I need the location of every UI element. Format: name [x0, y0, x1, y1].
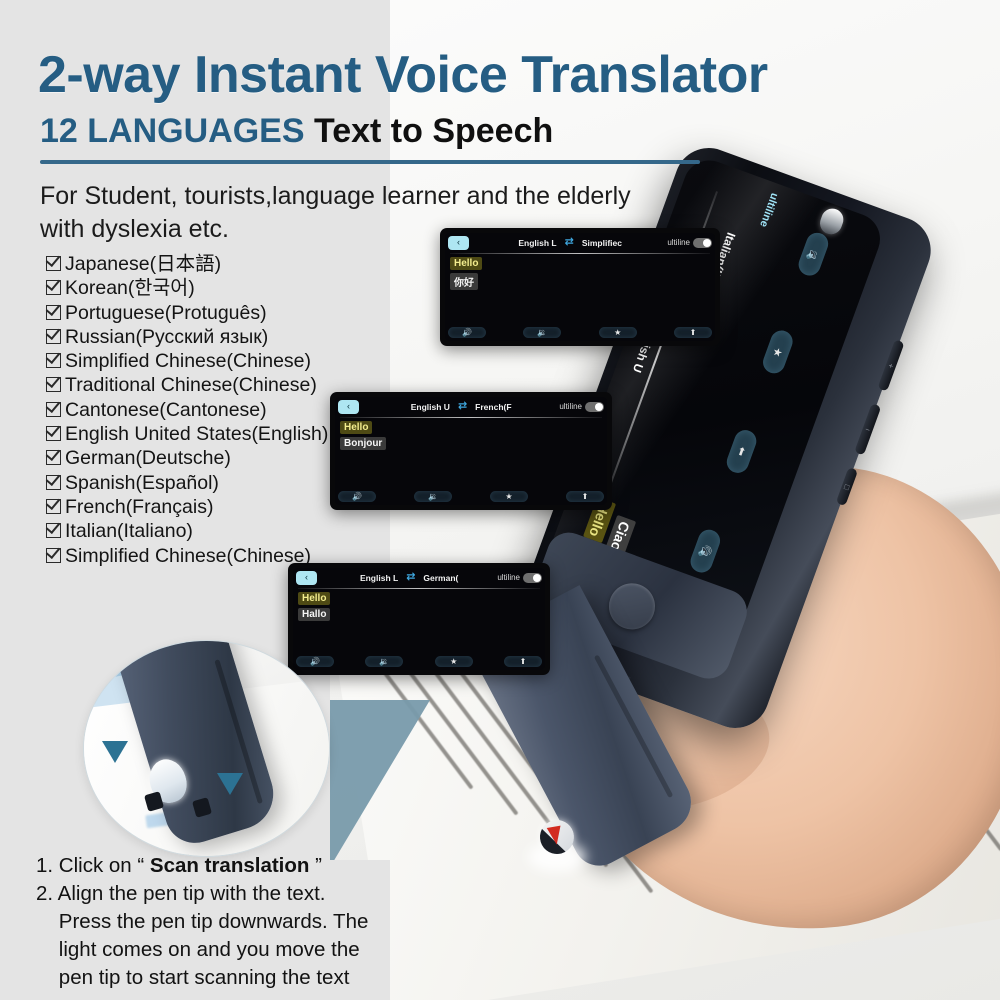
source-text: Hello: [340, 421, 372, 434]
target-language[interactable]: German(: [423, 573, 458, 583]
language-label: Italian(Italiano): [65, 519, 193, 543]
device-button-share[interactable]: ⬆: [724, 427, 760, 476]
step1-prefix: 1. Click on “: [36, 854, 150, 877]
checkmark-icon: [46, 377, 61, 392]
translation-screen-german[interactable]: ‹English L⇄German(ultilineHelloHallo🔊🔉★⬆: [288, 563, 550, 675]
device-multiline-label[interactable]: ultiline: [757, 191, 780, 228]
play-source-audio-button[interactable]: 🔊: [448, 327, 486, 338]
favorite-button[interactable]: ★: [435, 656, 473, 667]
screen-action-bar: 🔊🔉★⬆: [448, 327, 712, 338]
language-label: Russian(Русский язык): [65, 325, 268, 349]
pen-tip-closeup-inset: [83, 640, 330, 857]
source-language[interactable]: English U: [411, 402, 450, 412]
favorite-button[interactable]: ★: [490, 491, 528, 502]
language-label: Cantonese(Cantonese): [65, 398, 267, 422]
language-label: Spanish(Español): [65, 471, 219, 495]
checkmark-icon: [46, 475, 61, 490]
checkmark-icon: [46, 499, 61, 514]
language-label: French(Français): [65, 495, 213, 519]
language-item: Portuguese(Protuguês): [46, 301, 386, 325]
target-language[interactable]: Simplifiec: [582, 238, 622, 248]
share-button[interactable]: ⬆: [674, 327, 712, 338]
screen-header: ‹English U⇄French(Fultiline: [338, 398, 604, 415]
instruction-step-1: 1. Click on “ Scan translation ”: [36, 852, 376, 880]
source-language[interactable]: English L: [360, 573, 398, 583]
translation-screen-chinese[interactable]: ‹English L⇄SimplifiecultilineHello你好🔊🔉★⬆: [440, 228, 720, 346]
target-text: 你好: [450, 273, 478, 290]
step1-action: Scan translation: [150, 854, 310, 877]
language-item: Simplified Chinese(Chinese): [46, 349, 386, 373]
subtitle-language-count: 12 LANGUAGES: [40, 112, 305, 150]
down-arrow-icon-left: [102, 741, 128, 763]
device-button-play-target-audio[interactable]: 🔉: [796, 230, 832, 279]
play-target-audio-button[interactable]: 🔉: [414, 491, 452, 502]
checkmark-icon: [46, 305, 61, 320]
page-subtitle: 12 LANGUAGES Text to Speech: [40, 112, 553, 151]
step1-suffix: ”: [309, 854, 322, 877]
subtitle-feature: Text to Speech: [314, 112, 553, 150]
target-text: Hallo: [298, 608, 330, 621]
checkmark-icon: [46, 426, 61, 441]
screen-divider: [298, 588, 540, 589]
language-label: German(Deutsche): [65, 446, 231, 470]
play-target-audio-button[interactable]: 🔉: [365, 656, 403, 667]
language-label: Japanese(日本語): [65, 252, 221, 276]
play-target-audio-button[interactable]: 🔉: [523, 327, 561, 338]
source-language[interactable]: English L: [518, 238, 556, 248]
language-label: Simplified Chinese(Chinese): [65, 349, 311, 373]
checkmark-icon: [46, 353, 61, 368]
back-icon[interactable]: ‹: [338, 400, 359, 414]
target-language[interactable]: French(F: [475, 402, 511, 412]
checkmark-icon: [46, 402, 61, 417]
language-pair[interactable]: English L⇄Simplifiec: [473, 237, 667, 248]
checkmark-icon: [46, 548, 61, 563]
language-item: Japanese(日本語): [46, 252, 386, 276]
multiline-label: ultiline: [667, 238, 690, 247]
back-icon[interactable]: ‹: [448, 236, 469, 250]
translation-screen-french[interactable]: ‹English U⇄French(FultilineHelloBonjour🔊…: [330, 392, 612, 510]
language-item: Russian(Русский язык): [46, 325, 386, 349]
checkmark-icon: [46, 523, 61, 538]
language-label: Portuguese(Protuguês): [65, 301, 267, 325]
screen-header: ‹English L⇄Simplifiecultiline: [448, 234, 712, 251]
favorite-button[interactable]: ★: [599, 327, 637, 338]
play-source-audio-button[interactable]: 🔊: [296, 656, 334, 667]
swap-languages-icon[interactable]: ⇄: [458, 401, 467, 412]
back-icon[interactable]: ‹: [296, 571, 317, 585]
product-marketing-image: English U ⇄ Italian(Ita ultiline ‹ Hello…: [0, 0, 1000, 1000]
page-title: 2-way Instant Voice Translator: [38, 45, 968, 105]
checkmark-icon: [46, 280, 61, 295]
screen-action-bar: 🔊🔉★⬆: [296, 656, 542, 667]
target-text: Bonjour: [340, 437, 386, 450]
source-text: Hello: [298, 592, 330, 605]
scan-tip-red-marker-icon: [547, 826, 564, 846]
usage-instructions: 1. Click on “ Scan translation ” 2. Alig…: [36, 852, 376, 992]
checkmark-icon: [46, 329, 61, 344]
share-button[interactable]: ⬆: [504, 656, 542, 667]
multiline-toggle[interactable]: [585, 402, 604, 412]
screen-divider: [340, 417, 602, 418]
screen-divider: [450, 253, 710, 254]
multiline-label: ultiline: [559, 402, 582, 411]
share-button[interactable]: ⬆: [566, 491, 604, 502]
language-pair[interactable]: English L⇄German(: [321, 572, 497, 583]
screen-header: ‹English L⇄German(ultiline: [296, 569, 542, 586]
multiline-toggle[interactable]: [523, 573, 542, 583]
language-label: English United States(English): [65, 422, 328, 446]
language-label: Simplified Chinese(Chinese): [65, 544, 311, 568]
swap-languages-icon[interactable]: ⇄: [565, 237, 574, 248]
language-item: Korean(한국어): [46, 276, 386, 300]
checkmark-icon: [46, 256, 61, 271]
language-label: Korean(한국어): [65, 276, 195, 300]
multiline-toggle[interactable]: [693, 238, 712, 248]
instruction-step-2: 2. Align the pen tip with the text. Pres…: [36, 880, 376, 992]
checkmark-icon: [46, 450, 61, 465]
play-source-audio-button[interactable]: 🔊: [338, 491, 376, 502]
language-pair[interactable]: English U⇄French(F: [363, 401, 559, 412]
language-item: Italian(Italiano): [46, 519, 386, 543]
source-text: Hello: [450, 257, 482, 270]
swap-languages-icon[interactable]: ⇄: [406, 572, 415, 583]
device-button-favorite[interactable]: ★: [760, 327, 796, 376]
language-label: Traditional Chinese(Chinese): [65, 373, 317, 397]
down-arrow-icon-right: [217, 773, 243, 795]
title-divider: [40, 160, 700, 164]
multiline-label: ultiline: [497, 573, 520, 582]
device-button-play-source-audio[interactable]: 🔊: [687, 527, 723, 576]
screen-action-bar: 🔊🔉★⬆: [338, 491, 604, 502]
